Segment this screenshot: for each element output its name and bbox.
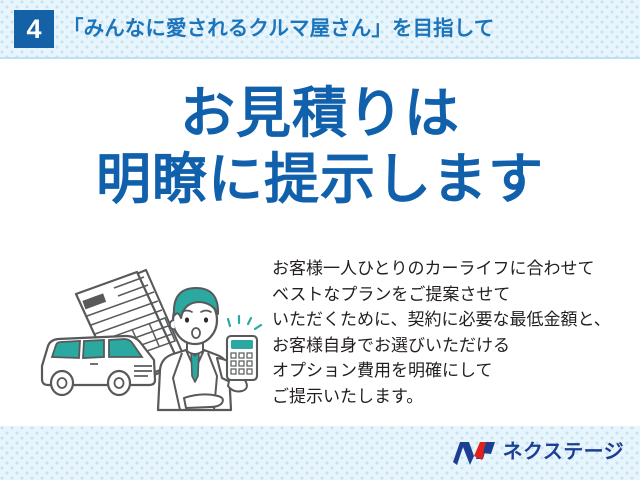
body-copy-line: お客様一人ひとりのカーライフに合わせて — [272, 256, 622, 282]
quotation-illustration — [34, 258, 266, 416]
brand-lockup: ネクステージ — [452, 437, 624, 467]
headline-line-2: 明瞭に提示します — [0, 148, 640, 210]
body-copy-line: お客様自身でお選びいただける — [272, 333, 622, 359]
step-number-badge: 4 — [14, 10, 54, 48]
header-title: 「みんなに愛されるクルマ屋さん」を目指して — [63, 12, 494, 46]
footer-band: ネクステージ — [0, 426, 640, 480]
body-copy: お客様一人ひとりのカーライフに合わせて ベストなプランをご提案させて いただくた… — [272, 256, 622, 409]
headline-block: お見積りは 明瞭に提示します — [0, 82, 640, 210]
header-divider — [0, 57, 640, 59]
promo-slide: 4 「みんなに愛されるクルマ屋さん」を目指して お見積りは 明瞭に提示します — [0, 0, 640, 480]
body-copy-line: ご提示いたします。 — [272, 384, 622, 410]
body-copy-line: ベストなプランをご提案させて — [272, 282, 622, 308]
headline-line-1: お見積りは — [0, 82, 640, 144]
calculator-illustration — [227, 336, 257, 380]
brand-name: ネクステージ — [503, 437, 624, 467]
header-band: 4 「みんなに愛されるクルマ屋さん」を目指して — [0, 0, 640, 57]
nextage-logo-icon — [452, 439, 496, 465]
body-copy-line: いただくために、契約に必要な最低金額と、 — [272, 307, 622, 333]
van-illustration — [42, 336, 155, 395]
sparkle-icon — [228, 316, 261, 329]
body-copy-line: オプション費用を明確にして — [272, 358, 622, 384]
